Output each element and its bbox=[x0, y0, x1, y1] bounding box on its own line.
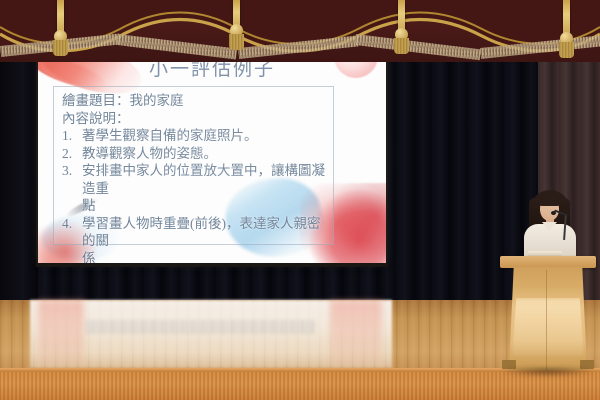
stage-presentation-photo: 小一評估例子 繪畫題目：我的家庭 內容說明： 1. 著學生觀察自備的家庭照片。 … bbox=[0, 0, 600, 400]
lectern-highlight bbox=[512, 298, 584, 356]
list-item-text-continuation: 係 bbox=[82, 250, 327, 264]
lectern-shadow bbox=[500, 368, 596, 377]
presenter-and-podium bbox=[496, 186, 600, 374]
list-item-text: 學習畫人物時重疊(前後)，表達家人親密的關 係 bbox=[82, 215, 327, 264]
reflection-red-tint bbox=[38, 300, 84, 366]
valance-tassel bbox=[563, 0, 570, 48]
stage-valance bbox=[0, 0, 600, 62]
slide-content-box: 繪畫題目：我的家庭 內容說明： 1. 著學生觀察自備的家庭照片。 2. 教導觀察… bbox=[53, 86, 334, 245]
microphone-icon bbox=[551, 211, 556, 215]
list-item-text-main: 學習畫人物時重疊(前後)，表達家人親密的關 bbox=[82, 216, 321, 249]
projection-screen: 小一評估例子 繪畫題目：我的家庭 內容說明： 1. 著學生觀察自備的家庭照片。 … bbox=[38, 48, 386, 263]
slide-heading-topic: 繪畫題目：我的家庭 bbox=[62, 92, 327, 110]
reflection-text-blur bbox=[86, 320, 316, 334]
wooden-lectern bbox=[500, 256, 596, 374]
lectern-seam bbox=[546, 270, 547, 370]
slide-list-item: 1. 著學生觀察自備的家庭照片。 bbox=[62, 127, 327, 145]
list-item-number: 1. bbox=[62, 127, 82, 145]
list-item-text: 教導觀察人物的姿態。 bbox=[82, 145, 327, 163]
slide-list-item: 3. 安排畫中家人的位置放大置中，讓構圖凝造重 點 bbox=[62, 162, 327, 215]
list-item-text: 著學生觀察自備的家庭照片。 bbox=[82, 127, 327, 145]
list-item-text-continuation: 點 bbox=[82, 197, 327, 215]
presenter bbox=[518, 186, 580, 260]
list-item-number: 4. bbox=[62, 215, 82, 264]
list-item-text-main: 安排畫中家人的位置放大置中，讓構圖凝造重 bbox=[82, 163, 325, 196]
presenter-hair-fringe bbox=[538, 194, 561, 206]
valance-tassel bbox=[398, 0, 405, 44]
slide-heading-description: 內容說明： bbox=[62, 110, 327, 128]
list-item-text: 安排畫中家人的位置放大置中，讓構圖凝造重 點 bbox=[82, 162, 327, 215]
list-item-number: 3. bbox=[62, 162, 82, 215]
lectern-top bbox=[500, 256, 596, 268]
valance-tassel bbox=[233, 0, 240, 40]
left-stage-curtain bbox=[0, 38, 38, 320]
reflection-red-tint bbox=[330, 300, 382, 366]
valance-tassel bbox=[57, 0, 64, 46]
slide-list-item: 2. 教導觀察人物的姿態。 bbox=[62, 145, 327, 163]
slide-list-item: 4. 學習畫人物時重疊(前後)，表達家人親密的關 係 bbox=[62, 215, 327, 264]
list-item-number: 2. bbox=[62, 145, 82, 163]
floor-reflection-of-screen bbox=[30, 300, 392, 368]
